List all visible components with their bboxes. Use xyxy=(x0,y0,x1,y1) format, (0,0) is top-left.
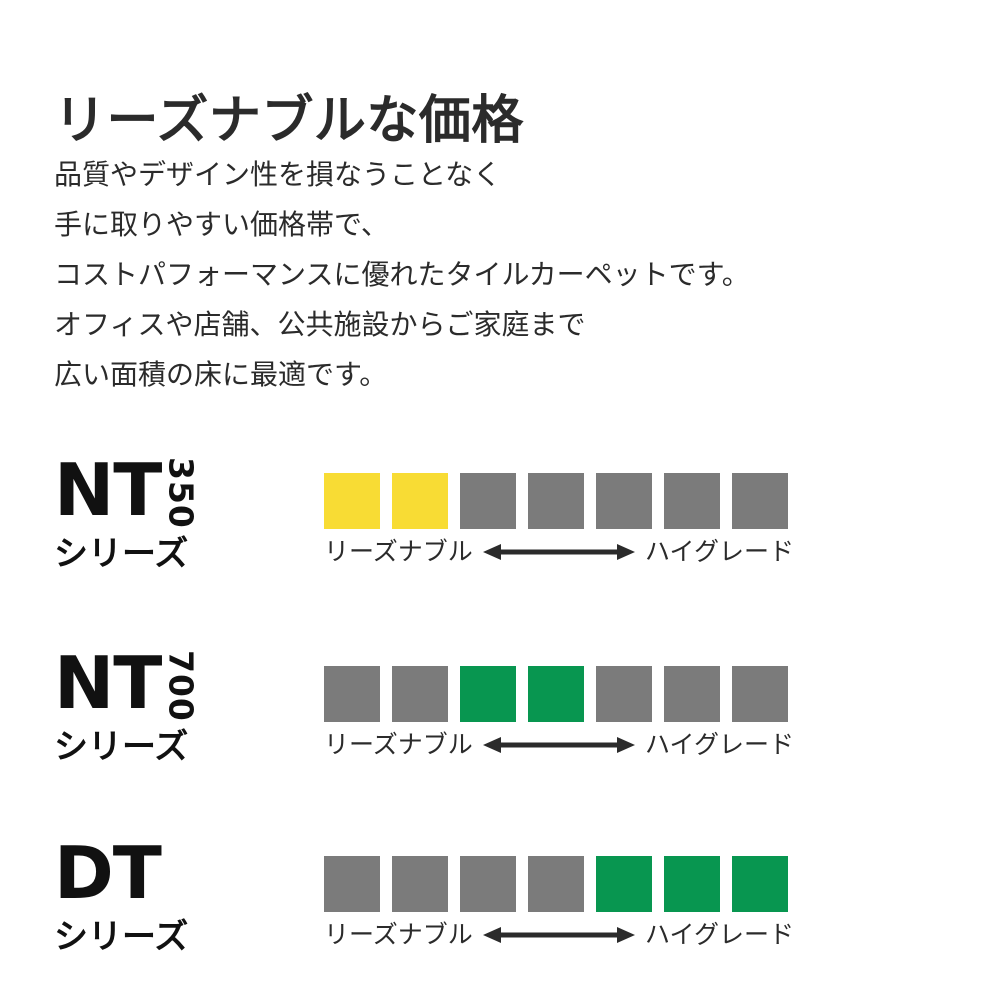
grade-scale-nt700: リーズナブル ハイグレード xyxy=(324,666,794,757)
scale-right-label: ハイグレード xyxy=(645,732,794,757)
swatch-strip xyxy=(324,473,794,529)
swatch xyxy=(460,856,516,912)
description-line: 手に取りやすい価格帯で、 xyxy=(54,200,750,250)
series-label-nt350: NT 350 シリーズ xyxy=(54,455,294,571)
series-suffix: シリーズ xyxy=(54,920,294,954)
swatch-strip xyxy=(324,856,794,912)
series-number: 700 xyxy=(164,650,197,722)
series-code: NT xyxy=(54,455,161,525)
swatch xyxy=(732,856,788,912)
series-suffix: シリーズ xyxy=(54,730,294,764)
description-line: コストパフォーマンスに優れたタイルカーペットです。 xyxy=(54,250,750,300)
series-name-lockup: DT xyxy=(54,838,294,910)
scale-legend: リーズナブル ハイグレード xyxy=(324,732,794,757)
swatch xyxy=(460,666,516,722)
grade-scale-nt350: リーズナブル ハイグレード xyxy=(324,473,794,564)
series-row-dt: DT シリーズ リーズナブル ハイグレード xyxy=(0,838,1000,968)
scale-legend: リーズナブル ハイグレード xyxy=(324,539,794,564)
swatch xyxy=(596,666,652,722)
swatch xyxy=(596,473,652,529)
description-line: 品質やデザイン性を損なうことなく xyxy=(54,150,750,200)
swatch xyxy=(392,856,448,912)
series-name-lockup: NT 700 xyxy=(54,648,294,720)
swatch xyxy=(528,856,584,912)
series-number: 350 xyxy=(164,457,197,529)
description-line: オフィスや店舗、公共施設からご家庭まで xyxy=(54,300,750,350)
series-code: NT xyxy=(54,648,161,718)
double-arrow-horizontal-icon xyxy=(483,924,635,946)
swatch xyxy=(528,473,584,529)
series-label-dt: DT シリーズ xyxy=(54,838,294,954)
scale-left-label: リーズナブル xyxy=(324,922,473,947)
swatch xyxy=(664,856,720,912)
swatch xyxy=(392,666,448,722)
swatch xyxy=(732,666,788,722)
description-line: 広い面積の床に最適です。 xyxy=(54,350,750,400)
scale-legend: リーズナブル ハイグレード xyxy=(324,922,794,947)
grade-scale-dt: リーズナブル ハイグレード xyxy=(324,856,794,947)
description-block: 品質やデザイン性を損なうことなく 手に取りやすい価格帯で、 コストパフォーマンス… xyxy=(54,150,750,400)
series-name-lockup: NT 350 xyxy=(54,455,294,527)
swatch-strip xyxy=(324,666,794,722)
swatch xyxy=(460,473,516,529)
series-row-nt700: NT 700 シリーズ リーズナブル ハイグレード xyxy=(0,648,1000,778)
scale-left-label: リーズナブル xyxy=(324,539,473,564)
series-row-nt350: NT 350 シリーズ リーズナブル ハイグレード xyxy=(0,455,1000,585)
scale-left-label: リーズナブル xyxy=(324,732,473,757)
swatch xyxy=(392,473,448,529)
series-suffix: シリーズ xyxy=(54,537,294,571)
swatch xyxy=(324,473,380,529)
swatch xyxy=(664,473,720,529)
double-arrow-horizontal-icon xyxy=(483,541,635,563)
series-label-nt700: NT 700 シリーズ xyxy=(54,648,294,764)
double-arrow-horizontal-icon xyxy=(483,734,635,756)
swatch xyxy=(596,856,652,912)
scale-right-label: ハイグレード xyxy=(645,922,794,947)
swatch xyxy=(664,666,720,722)
page-title: リーズナブルな価格 xyxy=(54,93,524,150)
series-code: DT xyxy=(54,838,161,908)
swatch xyxy=(528,666,584,722)
scale-right-label: ハイグレード xyxy=(645,539,794,564)
swatch xyxy=(324,666,380,722)
swatch xyxy=(324,856,380,912)
swatch xyxy=(732,473,788,529)
